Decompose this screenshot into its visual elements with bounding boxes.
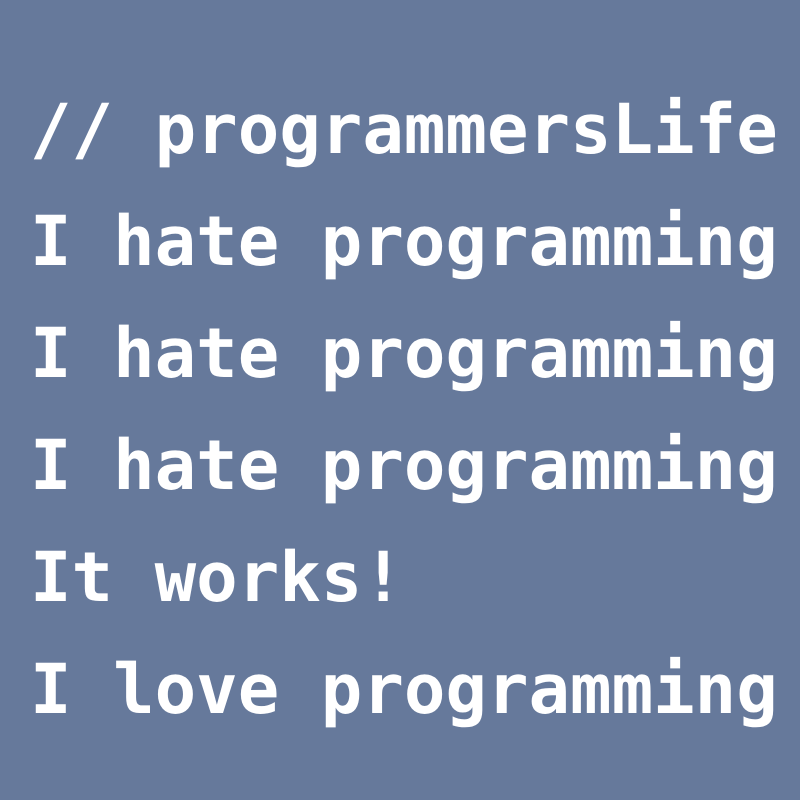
meme-image: // programmersLife I hate programming I … [0,0,800,800]
code-line-it-works: It works! [30,522,790,634]
code-line-hate-1: I hate programming [30,186,790,298]
code-line-comment-title: // programmersLife [30,74,790,186]
code-line-hate-2: I hate programming [30,298,790,410]
code-line-hate-3: I hate programming [30,410,790,522]
code-text-block: // programmersLife I hate programming I … [30,74,790,746]
code-line-love: I love programming [30,634,790,746]
